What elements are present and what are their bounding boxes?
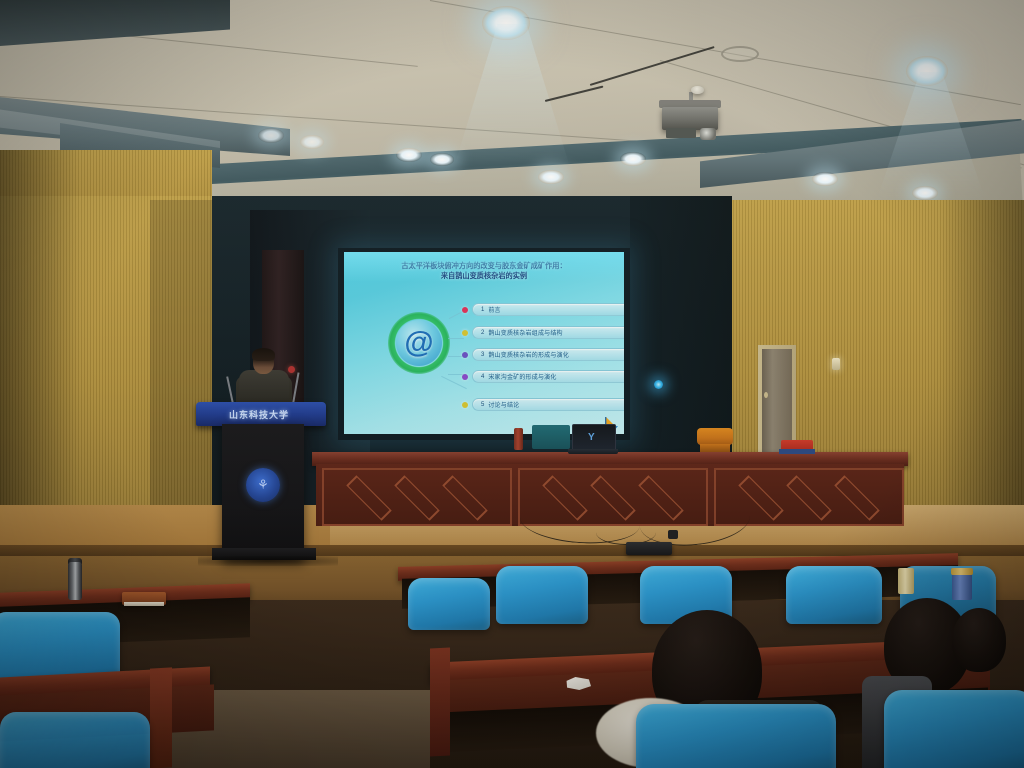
slide-outline-pill: 4 宋家沟金矿的形成与演化	[472, 370, 624, 383]
water-bottle	[898, 568, 914, 594]
smoke-detector	[691, 86, 704, 94]
bullet-dot-icon	[462, 330, 468, 336]
slide-outline-number: 2	[481, 330, 484, 336]
slide-outline-pill: 3 鹊山变质核杂岩的形成与演化	[472, 348, 624, 361]
slide-outline-item[interactable]: 5 讨论与结论	[462, 398, 624, 411]
slide-outline-pill: 2 鹊山变质核杂岩组成与结构	[472, 326, 624, 339]
slide-outline-text: 宋家沟金矿的形成与演化	[488, 372, 556, 381]
audience-seat[interactable]	[408, 578, 490, 630]
screen-glow-top	[344, 252, 624, 282]
wall-led-indicator	[654, 380, 663, 389]
slide-outline-item[interactable]: 4 宋家沟金矿的形成与演化	[462, 370, 624, 383]
audience-seat[interactable]	[496, 566, 588, 624]
slide-outline-text: 鹊山变质核杂岩的形成与演化	[488, 350, 569, 359]
red-box-base	[779, 449, 815, 454]
orange-chair-seat[interactable]	[700, 444, 730, 452]
slide-outline-pill: 1 前言	[472, 303, 624, 316]
lecture-hall-photo: 古太平洋板块俯冲方向的改变与胶东金矿成矿作用： 来自鹊山变质核杂岩的实例 @ 1…	[0, 0, 1024, 768]
downlight	[258, 128, 284, 143]
at-symbol-logo: @	[396, 320, 442, 366]
bullet-dot-icon	[462, 374, 468, 380]
slide-outline-text: 鹊山变质核杂岩组成与结构	[488, 328, 562, 337]
projector-lens	[700, 128, 716, 140]
stage-equipment-box	[626, 542, 672, 555]
microphone-head-icon	[288, 366, 295, 373]
bullet-dot-icon	[462, 307, 468, 313]
slide-outline-pill: 5 讨论与结论	[472, 398, 624, 411]
audience-seat[interactable]	[636, 704, 836, 768]
slide-outline-number: 5	[481, 402, 484, 408]
slide-outline-number: 3	[481, 352, 484, 358]
audience-person-hair-bun	[952, 608, 1006, 672]
slide-outline-text: 前言	[488, 305, 500, 314]
slide-outline-item[interactable]: 2 鹊山变质核杂岩组成与结构	[462, 326, 624, 339]
desk-side-panel	[430, 648, 450, 757]
door-knob-icon[interactable]	[764, 392, 768, 398]
downlight	[300, 135, 324, 149]
slide-outline-number: 1	[481, 307, 484, 313]
slide-outline-number: 4	[481, 374, 484, 380]
audience-seat[interactable]	[0, 712, 150, 768]
slide-outline-item[interactable]: 3 鹊山变质核杂岩的形成与演化	[462, 348, 624, 361]
audience-seat[interactable]	[884, 690, 1024, 768]
downlight	[396, 148, 422, 162]
downlight	[620, 152, 646, 166]
downlight	[912, 186, 938, 200]
slide-outline-text: 讨论与结论	[488, 400, 519, 409]
notebook-pages	[124, 602, 164, 606]
podium-shadow	[198, 556, 338, 566]
side-door[interactable]	[762, 349, 792, 453]
downlight	[430, 153, 454, 166]
presenter-laptop-base[interactable]	[568, 449, 618, 454]
projector-underside	[666, 128, 696, 138]
presenter-hair	[252, 348, 275, 361]
university-emblem-icon: ⚘	[246, 468, 280, 502]
table-thermos	[514, 428, 523, 450]
downlight	[538, 170, 564, 184]
ceiling-projector	[662, 107, 718, 130]
slide-outline-item[interactable]: 1 前言	[462, 303, 624, 316]
orange-chair-backrest[interactable]	[697, 428, 733, 445]
desk-thermos	[68, 562, 82, 600]
podium-institution-name: 山东科技大学	[200, 408, 318, 421]
water-bottle	[952, 572, 972, 600]
desk-side-panel	[150, 667, 172, 768]
wall-lamp	[832, 358, 840, 370]
bullet-dot-icon	[462, 402, 468, 408]
audience-seat[interactable]	[786, 566, 882, 624]
downlight	[812, 172, 838, 186]
laptop-brand-logo-icon: Y	[588, 432, 595, 443]
table-monitor-rear	[532, 425, 570, 449]
bullet-dot-icon	[462, 352, 468, 358]
cable-connector	[668, 530, 678, 539]
ceiling-vent-ring	[721, 46, 759, 62]
bottle-cap	[951, 568, 973, 575]
